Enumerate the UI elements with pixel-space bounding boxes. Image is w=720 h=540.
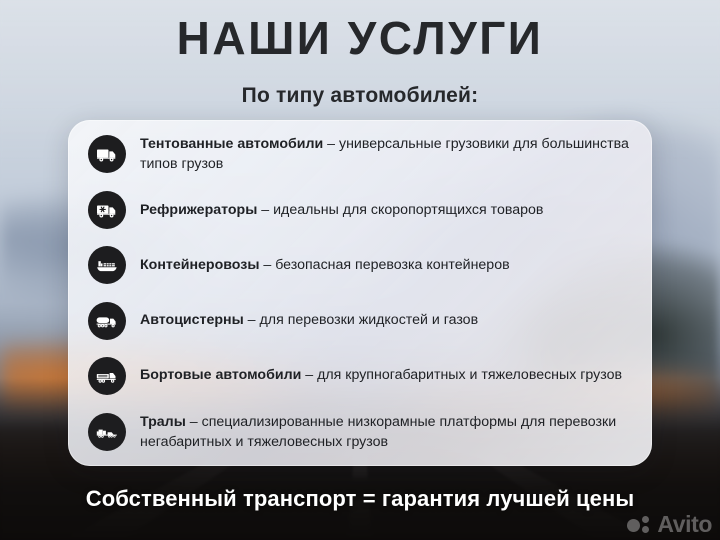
service-item-text: Контейнеровозы – безопасная перевозка ко… [140, 255, 510, 275]
service-item-dash: – [301, 367, 317, 383]
service-item-name: Тралы [140, 414, 186, 430]
service-item-dash: – [244, 312, 260, 328]
footer-tagline: Собственный транспорт = гарантия лучшей … [0, 486, 720, 512]
service-item-tanker-trucks: Автоцистерны – для перевозки жидкостей и… [88, 302, 630, 340]
service-item-name: Автоцистерны [140, 312, 244, 328]
service-item-lowboy-trailers: Тралы – специализированные низкорамные п… [88, 412, 630, 452]
avito-watermark: Avito [627, 513, 712, 536]
service-item-name: Рефрижераторы [140, 202, 257, 218]
service-item-description: для перевозки жидкостей и газов [260, 312, 479, 328]
service-item-text: Тралы – специализированные низкорамные п… [140, 412, 630, 452]
services-card: Тентованные автомобили – универсальные г… [68, 120, 652, 466]
service-item-description: идеальны для скоропортящихся товаров [273, 202, 543, 218]
service-item-tented-trucks: Тентованные автомобили – универсальные г… [88, 134, 630, 174]
avito-wordmark: Avito [657, 513, 712, 536]
service-poster: НАШИ УСЛУГИ По типу автомобилей: [0, 0, 720, 540]
container-ship-icon [88, 246, 126, 284]
service-item-flatbed-trucks: Бортовые автомобили – для крупногабаритн… [88, 357, 630, 395]
service-item-name: Тентованные автомобили [140, 136, 323, 152]
service-item-name: Бортовые автомобили [140, 367, 301, 383]
service-item-dash: – [257, 202, 273, 218]
service-item-dash: – [259, 257, 275, 273]
service-item-description: специализированные низкорамные платформы… [140, 414, 616, 450]
service-item-text: Рефрижераторы – идеальны для скоропортящ… [140, 200, 543, 220]
page-subtitle: По типу автомобилей: [0, 84, 720, 108]
service-item-dash: – [186, 414, 202, 430]
service-item-description: безопасная перевозка контейнеров [275, 257, 509, 273]
service-item-text: Бортовые автомобили – для крупногабаритн… [140, 365, 622, 385]
avito-logo-icon [627, 514, 653, 536]
service-item-description: для крупногабаритных и тяжеловесных груз… [317, 367, 622, 383]
service-item-dash: – [323, 136, 339, 152]
refrigerated-truck-icon [88, 191, 126, 229]
service-item-container-ships: Контейнеровозы – безопасная перевозка ко… [88, 246, 630, 284]
flatbed-truck-icon [88, 357, 126, 395]
lowboy-trailer-icon [88, 413, 126, 451]
service-item-text: Автоцистерны – для перевозки жидкостей и… [140, 310, 478, 330]
service-item-refrigerated-trucks: Рефрижераторы – идеальны для скоропортящ… [88, 191, 630, 229]
page-title: НАШИ УСЛУГИ [0, 14, 720, 64]
tanker-truck-icon [88, 302, 126, 340]
service-item-name: Контейнеровозы [140, 257, 259, 273]
service-item-text: Тентованные автомобили – универсальные г… [140, 134, 630, 174]
box-truck-icon [88, 135, 126, 173]
